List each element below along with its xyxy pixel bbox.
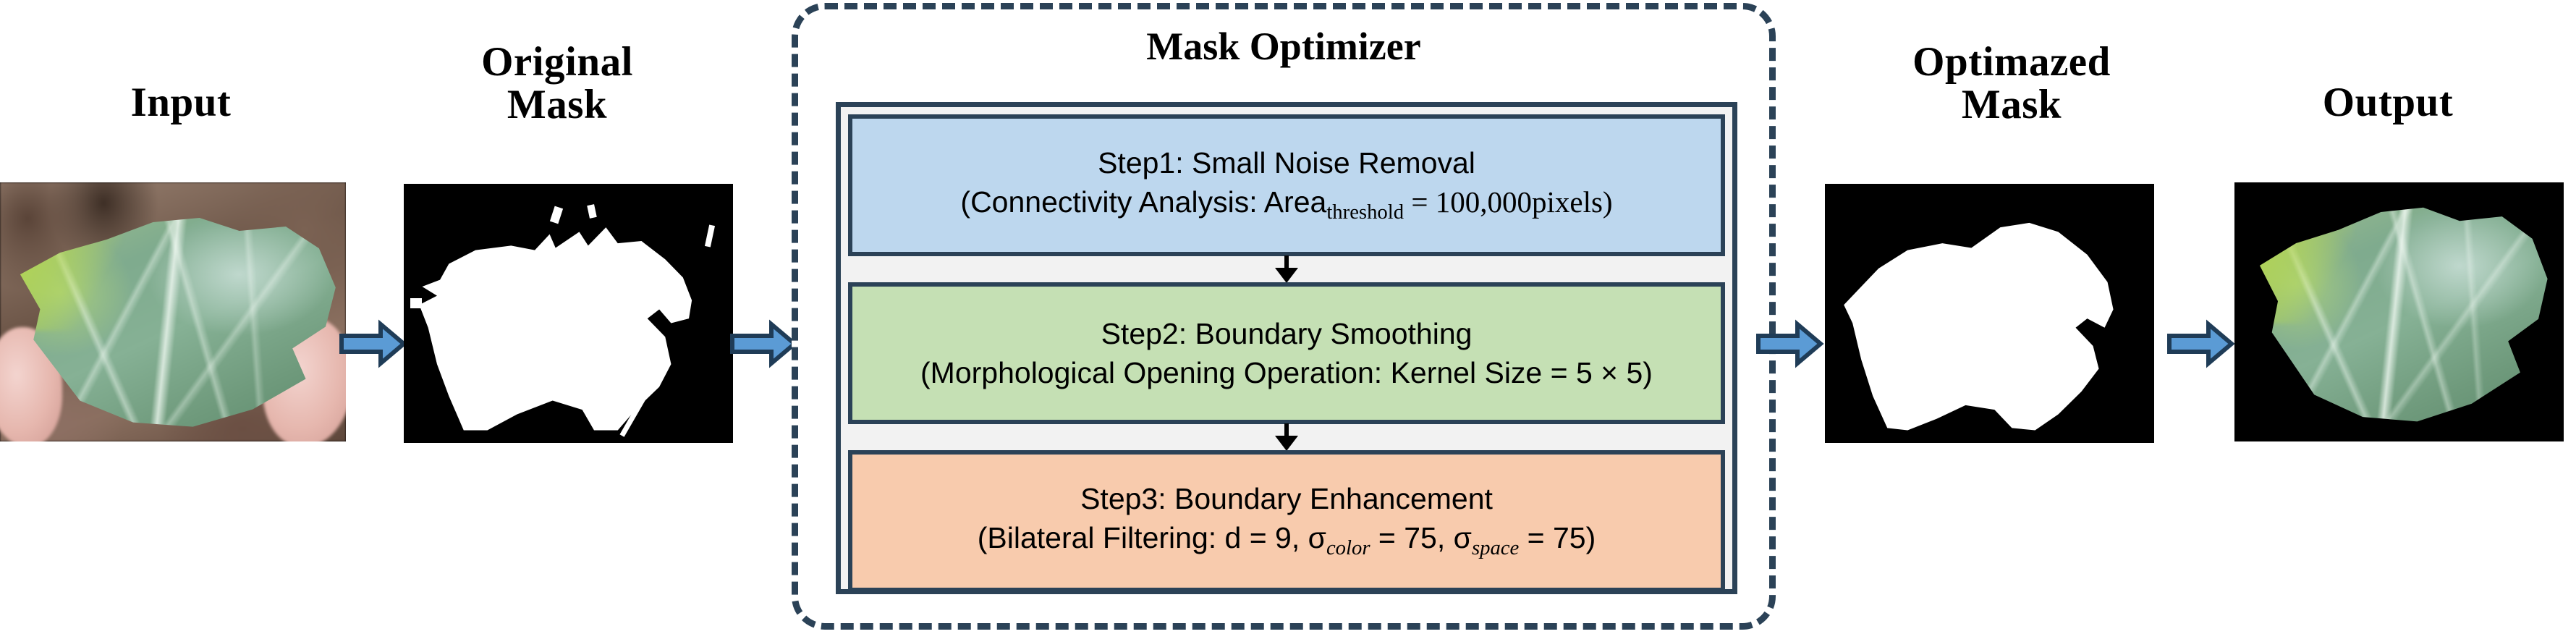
mask-optimizer-container: Mask Optimizer Step1: Small Noise Remova… bbox=[792, 3, 1776, 630]
step-1-title: Step1: Small Noise Removal bbox=[1098, 145, 1475, 180]
step-3-title: Step3: Boundary Enhancement bbox=[1080, 481, 1493, 516]
mask-noise-speck-3 bbox=[705, 225, 715, 248]
mask-noise-speck-2 bbox=[587, 204, 597, 219]
step-3-detail: (Bilateral Filtering: d = 9, σcolor = 75… bbox=[978, 520, 1596, 561]
step-1-detail-suffix: = 100,000pixels) bbox=[1404, 185, 1612, 219]
step-3-detail-suffix: = 75) bbox=[1519, 521, 1596, 554]
step-2-title: Step2: Boundary Smoothing bbox=[1101, 316, 1473, 351]
flow-arrow-original-mask-to-optimizer bbox=[728, 317, 799, 371]
optimizer-steps-frame: Step1: Small Noise Removal (Connectivity… bbox=[836, 102, 1737, 594]
step-2-detail: (Morphological Opening Operation: Kernel… bbox=[920, 355, 1653, 390]
flow-arrow-input-to-original-mask bbox=[337, 317, 408, 371]
optimizer-connector-arrow-1 bbox=[1274, 255, 1299, 283]
mask-optimizer-title: Mask Optimizer bbox=[798, 24, 1769, 69]
caption-original-mask-line1: Original bbox=[391, 41, 724, 83]
output-leaf bbox=[2247, 203, 2551, 426]
diagram-canvas: Input Original Mask Mask Optimize bbox=[0, 0, 2576, 634]
step-3-detail-subscript-space: space bbox=[1472, 536, 1519, 559]
optimizer-step-1[interactable]: Step1: Small Noise Removal (Connectivity… bbox=[848, 114, 1725, 256]
step-3-detail-prefix: (Bilateral Filtering: d = 9, σ bbox=[978, 521, 1326, 554]
step-1-detail: (Connectivity Analysis: Areathreshold = … bbox=[960, 185, 1612, 225]
mask-noise-speck-1 bbox=[550, 206, 563, 224]
image-input bbox=[0, 182, 346, 441]
caption-output: Output bbox=[2243, 81, 2533, 124]
output-leaf-yellow-edge bbox=[2250, 221, 2353, 324]
optimizer-connector-arrow-2 bbox=[1274, 423, 1299, 451]
caption-input: Input bbox=[14, 81, 347, 124]
image-optimized-mask bbox=[1825, 184, 2154, 443]
step-3-detail-mid: = 75, σ bbox=[1370, 521, 1472, 554]
step-1-detail-subscript: threshold bbox=[1326, 200, 1404, 224]
flow-arrow-optimized-mask-to-output bbox=[2165, 317, 2236, 371]
optimizer-step-3[interactable]: Step3: Boundary Enhancement (Bilateral F… bbox=[848, 450, 1725, 592]
flow-arrow-optimizer-to-optimized-mask bbox=[1754, 317, 1825, 371]
caption-optimized-mask: Optimazed Mask bbox=[1838, 41, 2185, 127]
caption-optimized-mask-line1: Optimazed bbox=[1838, 41, 2185, 83]
step-1-detail-prefix: (Connectivity Analysis: Area bbox=[960, 185, 1326, 219]
mask-noise-speck-4 bbox=[410, 298, 422, 308]
image-original-mask bbox=[404, 184, 733, 443]
caption-original-mask: Original Mask bbox=[391, 41, 724, 127]
optimizer-step-2[interactable]: Step2: Boundary Smoothing (Morphological… bbox=[848, 282, 1725, 424]
mask-region-optimized bbox=[1838, 205, 2127, 433]
caption-optimized-mask-line2: Mask bbox=[1838, 83, 2185, 126]
caption-original-mask-line2: Mask bbox=[391, 83, 724, 126]
image-output bbox=[2234, 182, 2564, 441]
step-3-detail-subscript-color: color bbox=[1326, 536, 1370, 559]
mask-region-original bbox=[410, 205, 707, 433]
